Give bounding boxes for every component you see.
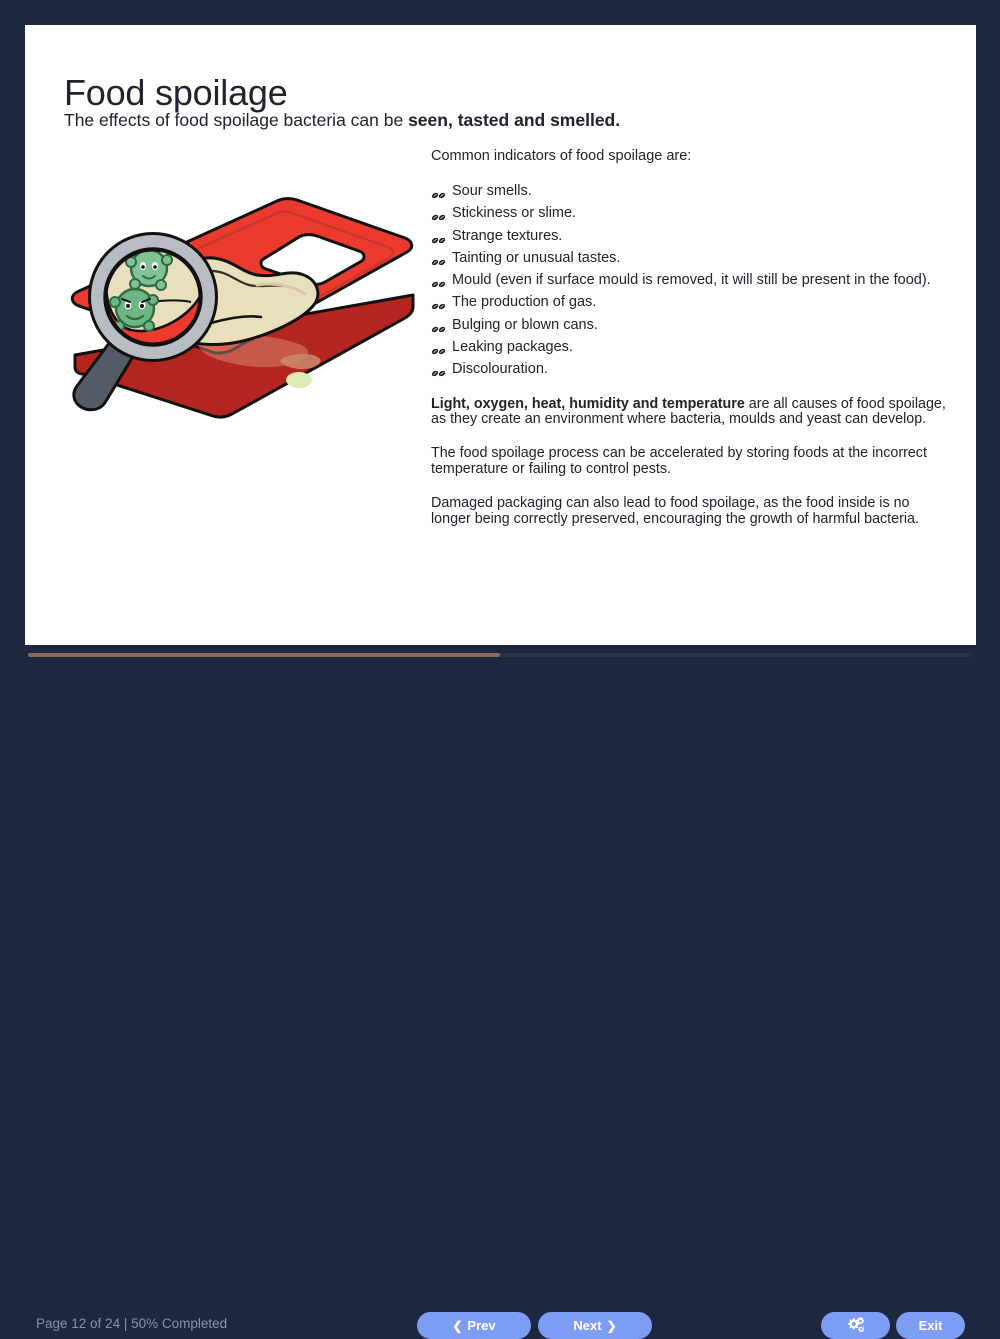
list-item-label: Stickiness or slime. xyxy=(452,205,576,221)
list-item: Sour smells. xyxy=(431,180,946,202)
indicator-list: Sour smells. Stickiness or slime. Strang… xyxy=(431,180,946,381)
paragraph-packaging: Damaged packaging can also lead to food … xyxy=(431,496,946,528)
bacteria-bullet-icon xyxy=(431,364,446,375)
bacteria-bullet-icon xyxy=(431,186,446,197)
bacteria-bullet-icon xyxy=(431,253,446,264)
list-item-label: Tainting or unusual tastes. xyxy=(452,250,620,266)
page-status-text: Page 12 of 24 | 50% Completed xyxy=(36,1316,227,1331)
paragraph-causes: Light, oxygen, heat, humidity and temper… xyxy=(431,397,946,429)
prev-button[interactable]: ❮ Prev xyxy=(417,1312,531,1339)
next-button-label: Next xyxy=(573,1318,601,1333)
bacteria-bullet-icon xyxy=(431,342,446,353)
prev-button-label: Prev xyxy=(467,1318,495,1333)
list-item: Leaking packages. xyxy=(431,336,946,358)
slide-card: Food spoilage The effects of food spoila… xyxy=(25,25,976,645)
footer-bar: Page 12 of 24 | 50% Completed ❮ Prev Nex… xyxy=(0,645,1000,707)
spoilage-text-column: Common indicators of food spoilage are: … xyxy=(431,148,946,527)
subtitle-text: The effects of food spoilage bacteria ca… xyxy=(64,110,408,130)
list-item-label: Discolouration. xyxy=(452,361,548,377)
list-item: Strange textures. xyxy=(431,225,946,247)
exit-button[interactable]: Exit xyxy=(896,1312,965,1339)
list-item-label: Mould (even if surface mould is removed,… xyxy=(452,272,931,288)
bacteria-bullet-icon xyxy=(431,297,446,308)
food-spoilage-illustration xyxy=(61,190,421,420)
list-item: Bulging or blown cans. xyxy=(431,314,946,336)
list-item: Mould (even if surface mould is removed,… xyxy=(431,269,946,291)
list-item: Tainting or unusual tastes. xyxy=(431,247,946,269)
slide-subtitle: The effects of food spoilage bacteria ca… xyxy=(64,110,620,131)
paragraph-causes-lead: Light, oxygen, heat, humidity and temper… xyxy=(431,396,745,412)
subtitle-emphasis: seen, tasted and smelled. xyxy=(408,110,620,130)
paragraph-acceleration-body: The food spoilage process can be acceler… xyxy=(431,445,927,477)
progress-bar-fill xyxy=(28,653,500,657)
list-item: Discolouration. xyxy=(431,358,946,380)
bacteria-bullet-icon xyxy=(431,275,446,286)
list-item: Stickiness or slime. xyxy=(431,202,946,224)
exit-button-label: Exit xyxy=(919,1318,943,1333)
next-button[interactable]: Next ❯ xyxy=(538,1312,652,1339)
list-item-label: Sour smells. xyxy=(452,183,532,199)
slide-viewer: Food spoilage The effects of food spoila… xyxy=(0,0,1000,707)
cogs-icon xyxy=(846,1316,865,1335)
green-drip xyxy=(286,372,312,388)
settings-button[interactable] xyxy=(821,1312,890,1339)
list-item-label: Leaking packages. xyxy=(452,339,573,355)
bacteria-bullet-icon xyxy=(431,208,446,219)
page-title: Food spoilage xyxy=(64,72,288,114)
paragraph-acceleration: The food spoilage process can be acceler… xyxy=(431,446,946,478)
indicators-intro: Common indicators of food spoilage are: xyxy=(431,148,946,164)
list-item: The production of gas. xyxy=(431,291,946,313)
bacteria-bullet-icon xyxy=(431,320,446,331)
chevron-right-icon: ❯ xyxy=(607,1319,617,1333)
bacteria-bullet-icon xyxy=(431,231,446,242)
paragraph-packaging-body: Damaged packaging can also lead to food … xyxy=(431,495,919,527)
chevron-left-icon: ❮ xyxy=(452,1319,462,1333)
list-item-label: Strange textures. xyxy=(452,228,562,244)
progress-bar-track[interactable] xyxy=(28,653,972,657)
list-item-label: Bulging or blown cans. xyxy=(452,317,598,333)
list-item-label: The production of gas. xyxy=(452,294,596,310)
